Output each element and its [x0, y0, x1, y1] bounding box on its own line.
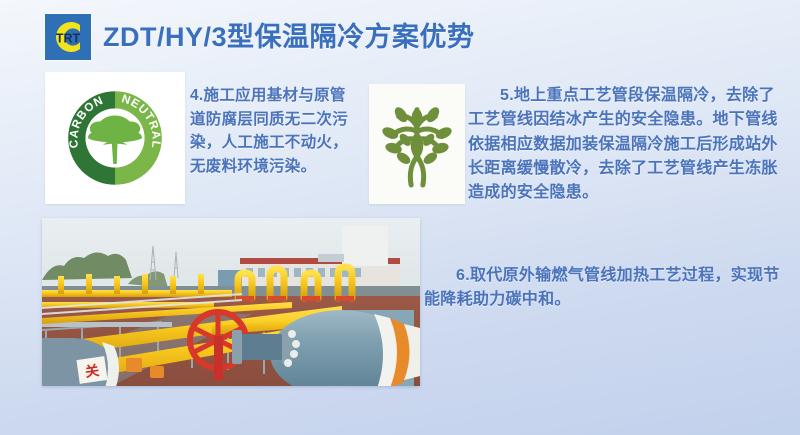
tree-logo-card	[369, 84, 465, 204]
valve-close-sign: 关	[76, 356, 107, 384]
slide-header: TRT ZDT/HY/3型保温隔冷方案优势	[45, 14, 475, 60]
carbon-neutral-card: CARBON NEUTRAL	[45, 72, 185, 204]
stylized-tree-icon	[375, 98, 459, 190]
bullet-text-6: 6.取代原外输燃气管线加热工艺过程，实现节能降耗助力碳中和。	[424, 264, 790, 313]
trt-circle-logo-icon: TRT	[47, 16, 89, 58]
slide-canvas: TRT ZDT/HY/3型保温隔冷方案优势 CARBON NEUTRAL	[0, 0, 800, 435]
photo-illustration: 关	[42, 218, 420, 386]
trt-logo: TRT	[45, 14, 91, 60]
bullet-text-4: 4.施工应用基材与原管道防腐层同质无二次污染，人工施工不动火，无废料环境污染。	[190, 84, 358, 178]
svg-text:TRT: TRT	[56, 32, 81, 46]
gas-station-pipeline-photo: 关	[42, 218, 420, 386]
page-title: ZDT/HY/3型保温隔冷方案优势	[103, 24, 475, 51]
carbon-neutral-badge-icon: CARBON NEUTRAL	[63, 86, 167, 190]
bullet-text-5: 5.地上重点工艺管段保温隔冷，去除了工艺管线因结冰产生的安全隐患。地下管线依据相…	[468, 84, 790, 206]
svg-text:关: 关	[84, 362, 100, 381]
